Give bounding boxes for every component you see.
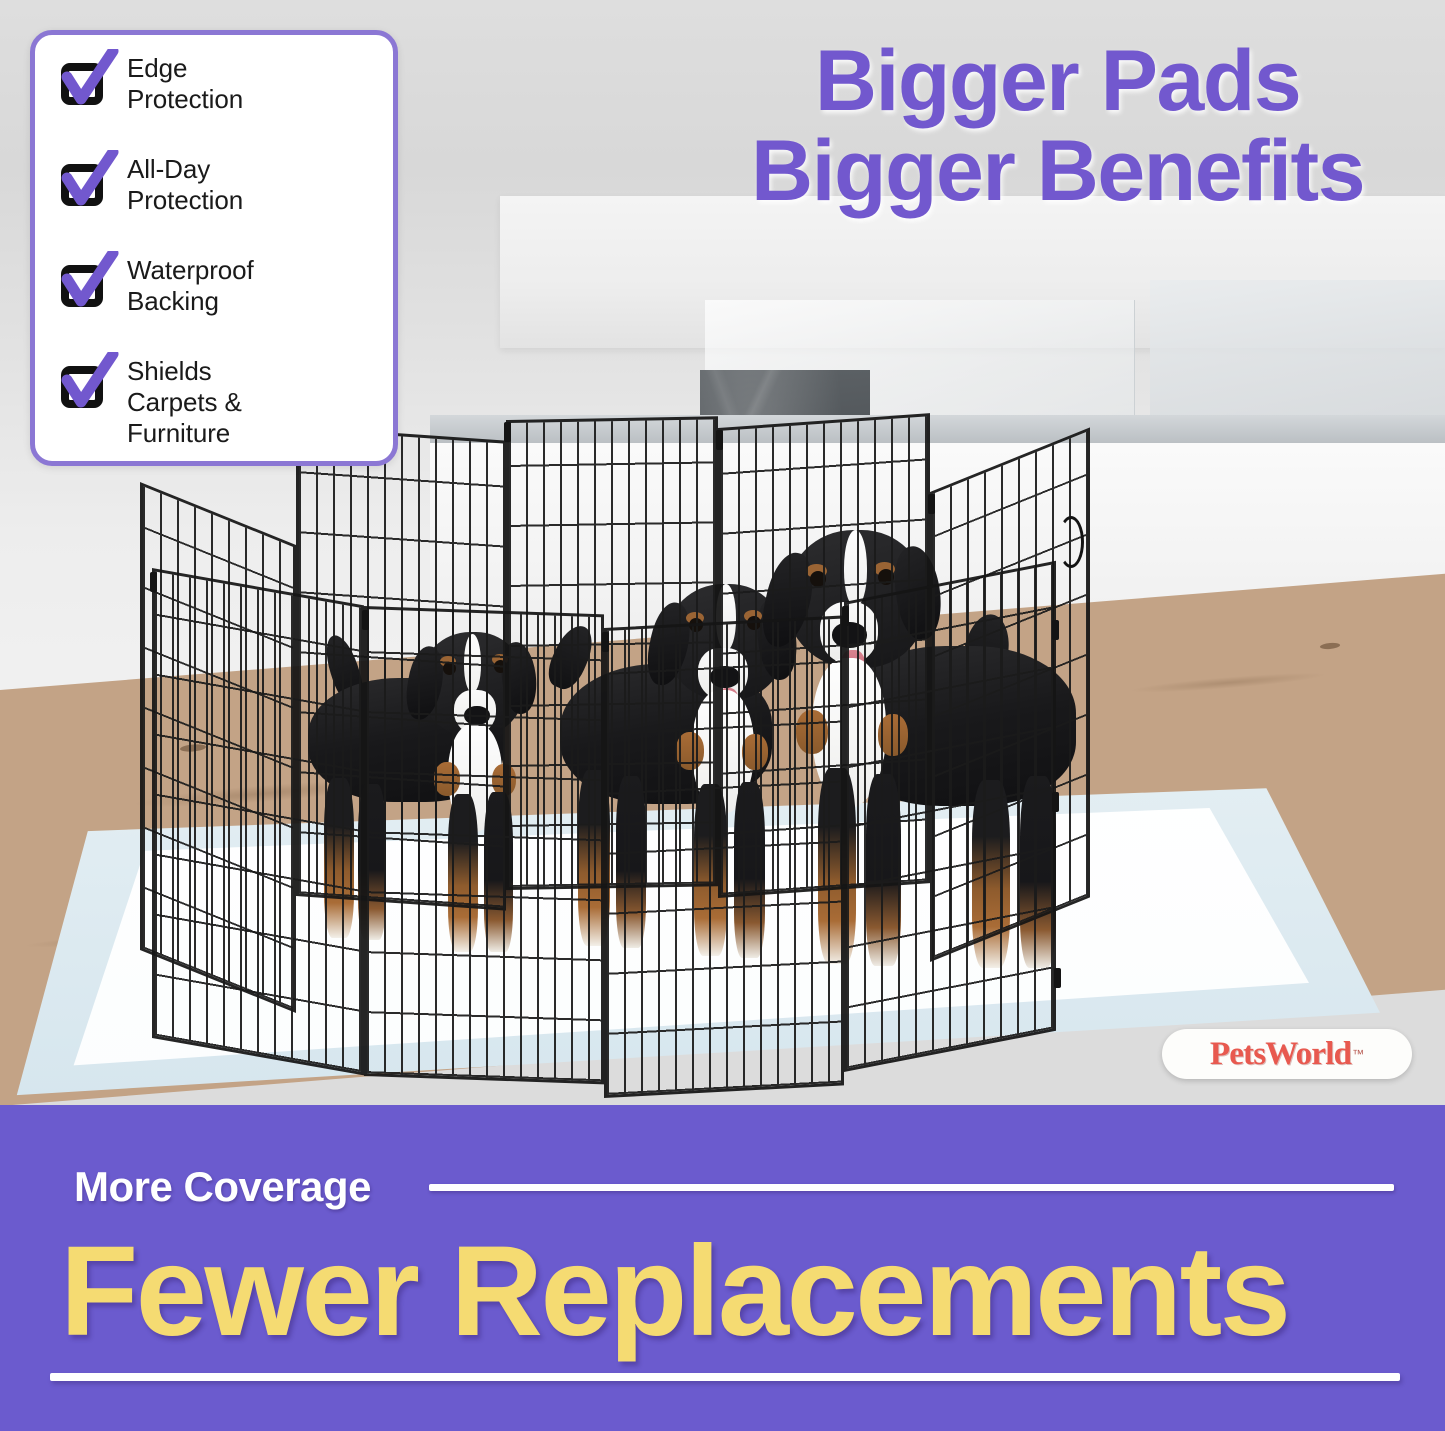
product-photo-scene: Edge Protection All-Day Protection — [0, 0, 1445, 1106]
playpen-hinge — [362, 610, 369, 630]
playpen-hinge — [1054, 968, 1061, 988]
banner-subhead: More Coverage — [74, 1163, 371, 1211]
headline-line-2: Bigger Benefits — [690, 126, 1425, 216]
playpen-hinge — [1052, 792, 1059, 812]
playpen-hinge — [602, 632, 609, 652]
banner-divider-top — [429, 1184, 1394, 1191]
brand-logo: PetsWorld ™ — [1162, 1029, 1412, 1079]
checkbox-checked-icon — [57, 257, 109, 309]
bottom-banner: More Coverage Fewer Replacements — [0, 1105, 1445, 1431]
playpen-hinge — [842, 606, 849, 626]
playpen-hinge — [504, 422, 511, 442]
feature-item-label: Waterproof Backing — [127, 255, 254, 317]
product-marketing-image: Edge Protection All-Day Protection — [0, 0, 1445, 1431]
playpen-hinge — [928, 494, 935, 514]
wire-playpen — [130, 420, 1260, 1020]
playpen-hinge — [716, 430, 723, 450]
banner-headline: Fewer Replacements — [60, 1227, 1400, 1357]
playpen-hinge — [1052, 620, 1059, 640]
headline-line-1: Bigger Pads — [690, 36, 1425, 126]
main-headline: Bigger Pads Bigger Benefits — [690, 36, 1425, 216]
feature-item: All-Day Protection — [57, 154, 379, 216]
feature-item-label: All-Day Protection — [127, 154, 243, 216]
checkbox-checked-icon — [57, 156, 109, 208]
playpen-latch — [1058, 516, 1084, 568]
feature-item: Edge Protection — [57, 53, 379, 115]
playpen-hinge — [150, 572, 157, 592]
feature-item: Shields Carpets & Furniture — [57, 356, 379, 449]
checkbox-checked-icon — [57, 358, 109, 410]
feature-item-label: Edge Protection — [127, 53, 243, 115]
playpen-panel-front-far-right — [844, 561, 1056, 1072]
feature-list-card: Edge Protection All-Day Protection — [30, 30, 398, 466]
banner-divider-bottom — [50, 1373, 1400, 1381]
banner-subhead-row: More Coverage — [74, 1163, 1394, 1211]
feature-item: Waterproof Backing — [57, 255, 379, 317]
checkbox-checked-icon — [57, 55, 109, 107]
feature-item-label: Shields Carpets & Furniture — [127, 356, 242, 449]
playpen-panel-front-left — [152, 568, 364, 1075]
playpen-panel-front-center — [364, 606, 604, 1084]
trademark-symbol: ™ — [1352, 1047, 1364, 1061]
brand-logo-text: PetsWorld — [1210, 1036, 1351, 1073]
playpen-panel-front-right — [604, 615, 844, 1098]
